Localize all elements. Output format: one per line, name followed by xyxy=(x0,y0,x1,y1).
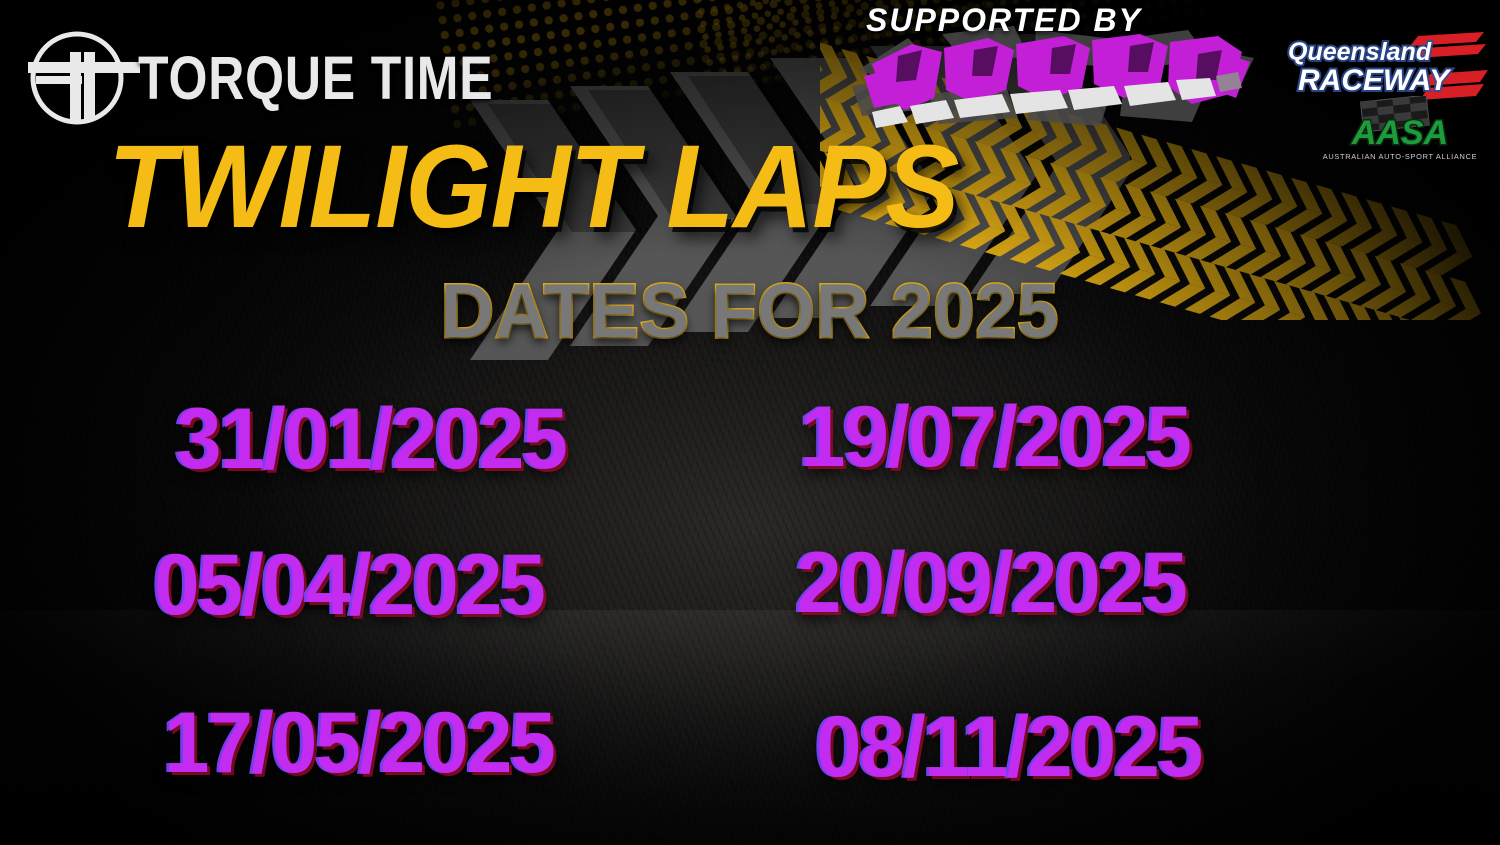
aasa-logo: AASA AUSTRALIAN AUTO-SPORT ALLIANCE xyxy=(1320,96,1480,164)
queensland-raceway-logo: Queensland RACEWAY Queensland RACEWAY xyxy=(1278,30,1490,100)
event-dates-list: 31/01/2025 19/07/2025 05/04/2025 20/09/2… xyxy=(0,380,1500,820)
event-date: 17/05/2025 xyxy=(164,700,554,786)
torque-time-logo: TORQUE TIME xyxy=(22,26,572,130)
event-date: 31/01/2025 xyxy=(176,396,566,482)
torque-time-wordmark: TORQUE TIME xyxy=(138,43,493,113)
event-poster: TORQUE TIME TWILIGHT LAPS DATES FOR 2025… xyxy=(0,0,1500,845)
event-date: 20/09/2025 xyxy=(796,540,1186,626)
phantom-performance-parts-logo xyxy=(838,24,1256,136)
torque-time-monogram-icon xyxy=(22,26,140,130)
svg-text:RACEWAY: RACEWAY xyxy=(1298,64,1452,97)
svg-text:Queensland: Queensland xyxy=(1288,38,1432,66)
svg-text:AUSTRALIAN AUTO-SPORT ALLIANCE: AUSTRALIAN AUTO-SPORT ALLIANCE xyxy=(1323,152,1478,161)
page-title: TWILIGHT LAPS xyxy=(108,128,958,246)
event-date: 19/07/2025 xyxy=(800,394,1190,480)
svg-text:AASA: AASA xyxy=(1351,114,1448,152)
page-subtitle: DATES FOR 2025 xyxy=(23,274,1478,350)
supported-by-label: SUPPORTED BY xyxy=(866,2,1142,39)
event-date: 05/04/2025 xyxy=(154,542,544,628)
event-date: 08/11/2025 xyxy=(816,704,1201,790)
